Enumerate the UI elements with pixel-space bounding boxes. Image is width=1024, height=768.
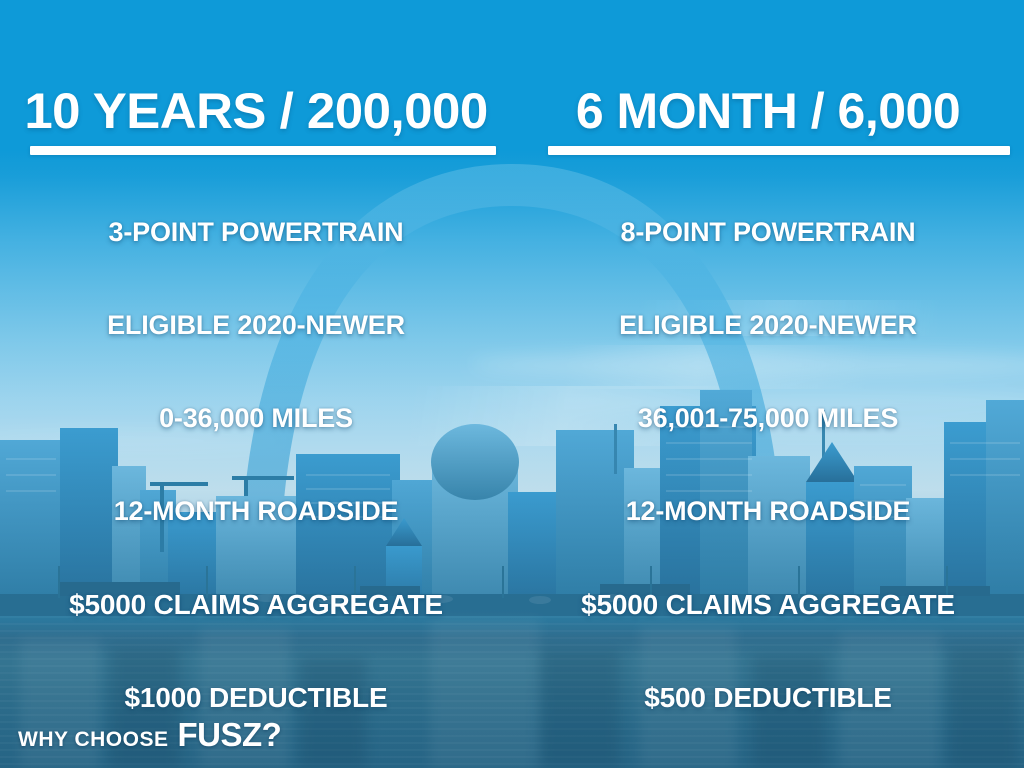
brand-footer: WHY CHOOSE FUSZ? xyxy=(18,716,281,754)
plan-feature-item: $500 DEDUCTIBLE xyxy=(512,651,1024,744)
footer-brand-name: FUSZ? xyxy=(177,716,281,754)
plan-feature-list-left: 3-POINT POWERTRAIN ELIGIBLE 2020-NEWER 0… xyxy=(0,186,512,744)
plan-feature-item: 36,001-75,000 MILES xyxy=(512,372,1024,465)
plan-feature-item: ELIGIBLE 2020-NEWER xyxy=(0,279,512,372)
plan-feature-item: 8-POINT POWERTRAIN xyxy=(512,186,1024,279)
plan-heading-left: 10 YEARS / 200,000 xyxy=(0,86,517,136)
plan-feature-item: 3-POINT POWERTRAIN xyxy=(0,186,512,279)
footer-tagline: WHY CHOOSE xyxy=(18,728,168,752)
slide-content: 10 YEARS / 200,000 3-POINT POWERTRAIN EL… xyxy=(0,0,1024,768)
plan-column-10-year: 10 YEARS / 200,000 3-POINT POWERTRAIN EL… xyxy=(0,0,512,768)
plan-heading-right: 6 MONTH / 6,000 xyxy=(512,86,1024,136)
plan-feature-item: 0-36,000 MILES xyxy=(0,372,512,465)
plan-feature-item: 12-MONTH ROADSIDE xyxy=(512,465,1024,558)
plan-heading-rule-right xyxy=(548,146,1010,155)
plan-columns: 10 YEARS / 200,000 3-POINT POWERTRAIN EL… xyxy=(0,0,1024,768)
plan-column-6-month: 6 MONTH / 6,000 8-POINT POWERTRAIN ELIGI… xyxy=(512,0,1024,768)
plan-feature-list-right: 8-POINT POWERTRAIN ELIGIBLE 2020-NEWER 3… xyxy=(512,186,1024,744)
slide-canvas: 10 YEARS / 200,000 3-POINT POWERTRAIN EL… xyxy=(0,0,1024,768)
plan-feature-item: $5000 CLAIMS AGGREGATE xyxy=(512,558,1024,651)
plan-feature-item: $5000 CLAIMS AGGREGATE xyxy=(0,558,512,651)
plan-feature-item: 12-MONTH ROADSIDE xyxy=(0,465,512,558)
plan-heading-rule-left xyxy=(30,146,496,155)
plan-feature-item: ELIGIBLE 2020-NEWER xyxy=(512,279,1024,372)
